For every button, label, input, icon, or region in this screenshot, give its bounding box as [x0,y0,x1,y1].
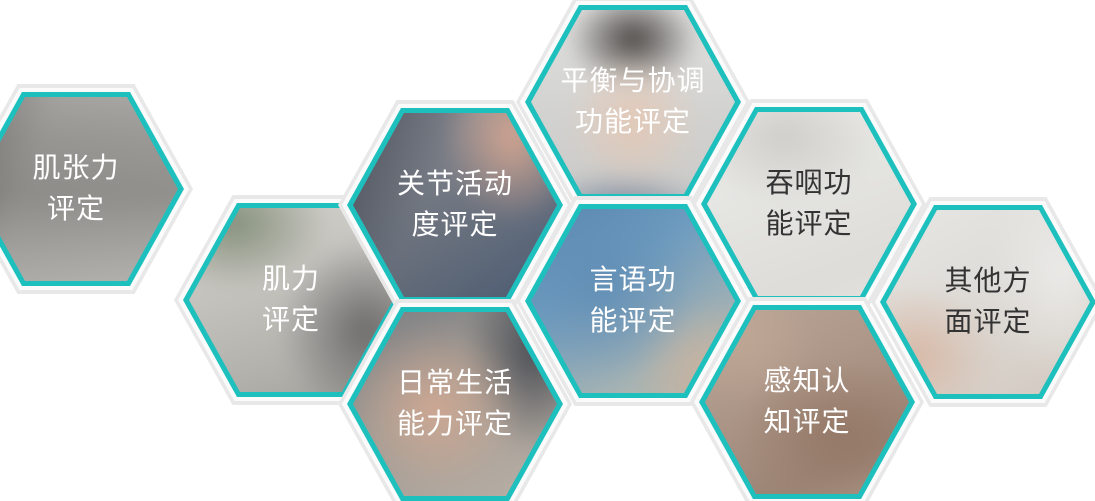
hexagon-muscle-tone[interactable]: 肌张力 评定 [0,92,184,286]
hexagon-diagram: 肌张力 评定肌力 评定关节活动 度评定日常生活 能力评定平衡与协调 功能评定言语… [0,0,1095,501]
hexagon-other-aspects[interactable]: 其他方 面评定 [880,205,1095,399]
